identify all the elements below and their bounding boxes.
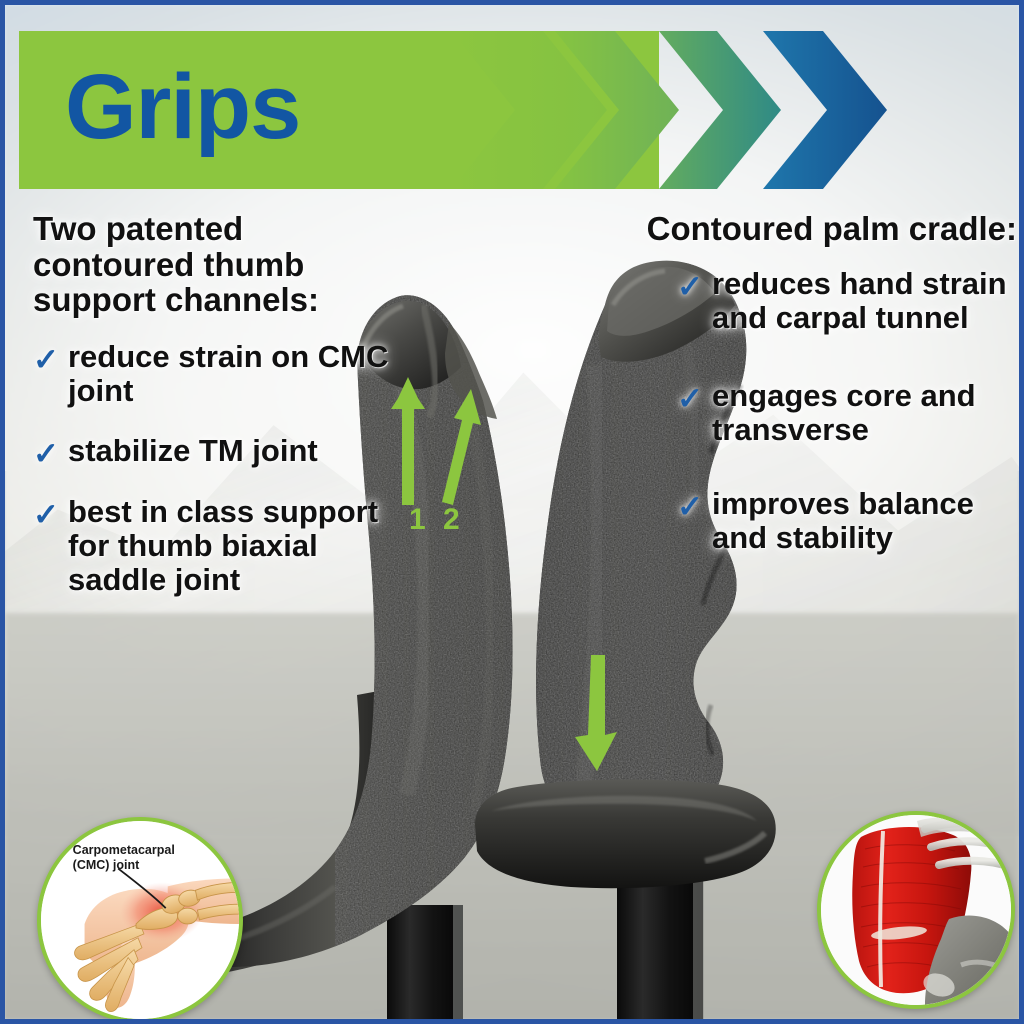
chevron-group — [451, 31, 951, 189]
list-item: ✓ engages core and transverse — [677, 379, 1017, 447]
core-muscle-inset — [817, 811, 1015, 1009]
check-icon: ✓ — [33, 499, 59, 530]
bullet-text: improves balance and stability — [712, 487, 1017, 555]
arrow-two-number: 2 — [443, 505, 460, 535]
right-column-heading: Contoured palm cradle: — [547, 211, 1017, 247]
list-item: ✓ stabilize TM joint — [33, 434, 413, 469]
list-item: ✓ reduces hand strain and carpal tunnel — [677, 267, 1017, 335]
cmc-label-line2: (CMC) joint — [73, 858, 175, 873]
bullet-text: reduce strain on CMC joint — [68, 340, 413, 408]
check-icon: ✓ — [677, 383, 703, 414]
bullet-text: stabilize TM joint — [68, 434, 318, 468]
cmc-inset-label: Carpometacarpal (CMC) joint — [73, 843, 175, 873]
header-banner: Grips — [19, 31, 929, 189]
page-title: Grips — [65, 61, 300, 153]
check-icon: ✓ — [33, 344, 59, 375]
bullet-text: best in class support for thumb biaxial … — [68, 495, 413, 597]
check-icon: ✓ — [677, 491, 703, 522]
bullet-text: engages core and transverse — [712, 379, 1017, 447]
right-feature-column: ✓ reduces hand strain and carpal tunnel … — [677, 267, 1017, 582]
pole-shafts — [387, 865, 704, 1024]
infographic-poster: 1 2 — [0, 0, 1024, 1024]
core-anatomy-illustration — [821, 815, 1011, 1005]
left-column-heading: Two patented contoured thumb support cha… — [33, 211, 413, 318]
list-item: ✓ best in class support for thumb biaxia… — [33, 495, 413, 597]
right-column-heading-wrap: Contoured palm cradle: — [547, 211, 1017, 247]
left-feature-column: Two patented contoured thumb support cha… — [33, 211, 413, 623]
bullet-text: reduces hand strain and carpal tunnel — [712, 267, 1017, 335]
cmc-joint-inset: Carpometacarpal (CMC) joint — [37, 817, 243, 1023]
check-icon: ✓ — [33, 438, 59, 469]
check-icon: ✓ — [677, 271, 703, 302]
cmc-label-line1: Carpometacarpal — [73, 843, 175, 858]
list-item: ✓ improves balance and stability — [677, 487, 1017, 555]
list-item: ✓ reduce strain on CMC joint — [33, 340, 413, 408]
chevron-icons — [451, 31, 951, 189]
